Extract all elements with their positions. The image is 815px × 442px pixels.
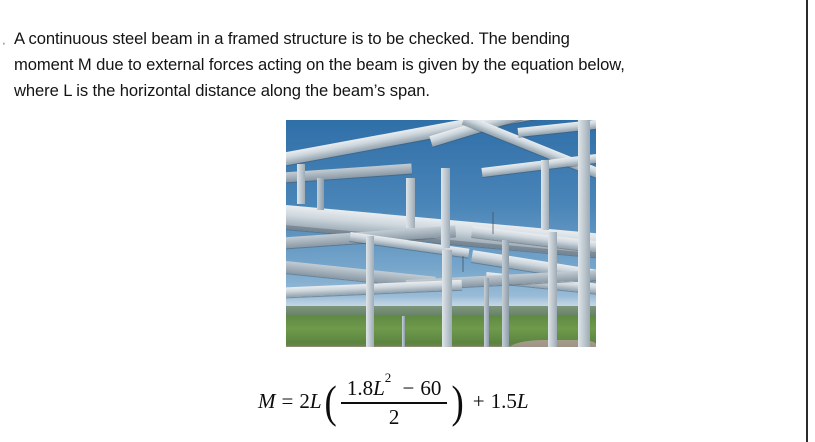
bolt-detail (462, 256, 464, 272)
bolt-detail (492, 212, 494, 234)
plus-sign: + (473, 389, 485, 414)
tail-coefficient: 1.5 (491, 389, 517, 414)
steel-column (502, 240, 509, 347)
steel-column (442, 250, 452, 347)
tail-variable: L (517, 389, 529, 414)
numerator-variable: L (373, 376, 385, 400)
steel-column (548, 232, 557, 347)
steel-column (406, 178, 415, 228)
equation-coefficient-variable: L (310, 389, 322, 414)
steel-column (484, 278, 489, 347)
list-marker: · (1, 40, 7, 46)
page-right-border (806, 0, 808, 442)
numerator-coefficient: 1.8 (347, 376, 373, 400)
fraction: 1.8L2 −60 2 (341, 375, 448, 430)
steel-column (297, 164, 305, 204)
photo-canvas (286, 120, 596, 347)
steel-column (578, 120, 590, 347)
bending-moment-equation: M = 2 L ( 1.8L2 −60 2 ) + 1.5 L (258, 374, 529, 429)
fraction-denominator: 2 (383, 404, 406, 430)
question-text: A continuous steel beam in a framed stru… (14, 26, 804, 104)
fraction-numerator: 1.8L2 −60 (341, 375, 448, 402)
site-post (402, 316, 405, 347)
steel-column (366, 236, 374, 347)
equals-sign: = (282, 389, 294, 414)
steel-column (541, 160, 549, 230)
steel-column (441, 168, 450, 248)
numerator-operator: − (403, 376, 415, 400)
numerator-exponent: 2 (385, 370, 392, 385)
equation-lhs: M (258, 389, 276, 414)
equation-coefficient: 2 (299, 389, 310, 414)
page-canvas: · A continuous steel beam in a framed st… (0, 0, 815, 442)
steel-frame-photo (286, 120, 596, 347)
numerator-constant: 60 (420, 376, 441, 400)
steel-column (317, 178, 324, 210)
